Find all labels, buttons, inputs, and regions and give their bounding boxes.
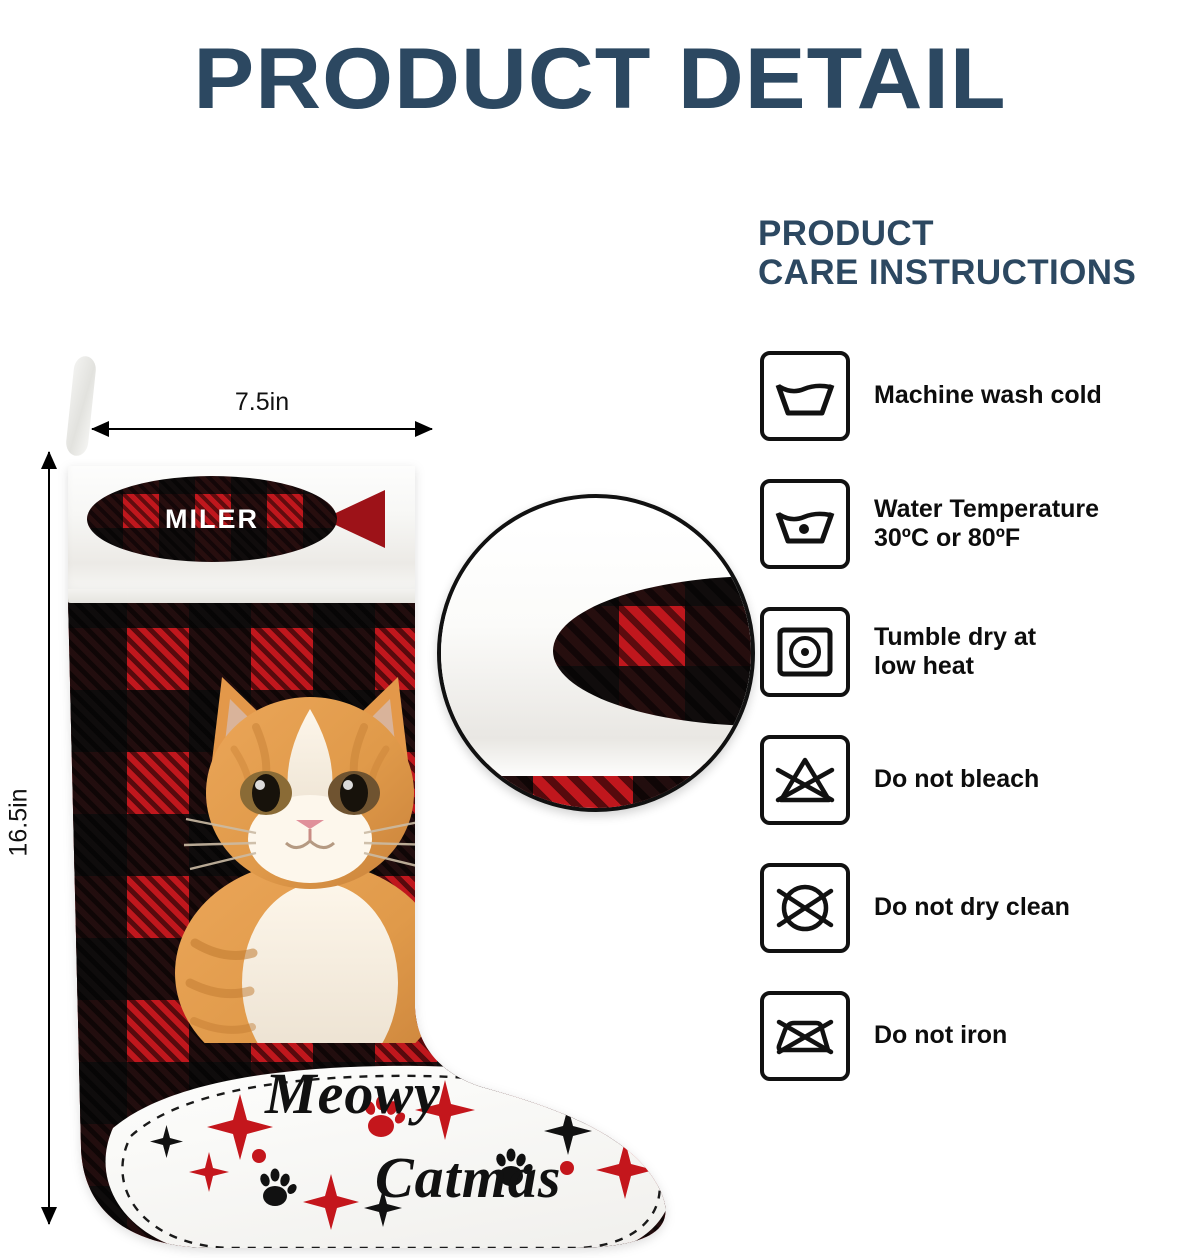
care-row: Machine wash cold bbox=[760, 332, 1190, 460]
care-label: Do not iron bbox=[874, 1021, 1007, 1051]
care-label: Water Temperature 30ºC or 80ºF bbox=[874, 495, 1099, 554]
care-row: Do not iron bbox=[760, 972, 1190, 1100]
magnifier-content: MIL bbox=[437, 494, 755, 812]
height-dimension-label: 16.5in bbox=[5, 778, 34, 868]
care-instructions-list: Machine wash cold Water Temperature 30ºC… bbox=[760, 332, 1190, 1100]
width-dimension-arrow bbox=[92, 428, 432, 430]
care-instructions-title: PRODUCT CARE INSTRUCTIONS bbox=[758, 214, 1188, 292]
sentiment-line-1: Meowy bbox=[265, 1060, 565, 1127]
care-label: Tumble dry at low heat bbox=[874, 623, 1036, 682]
do-not-dry-clean-icon bbox=[760, 863, 850, 953]
width-dimension-label: 7.5in bbox=[92, 388, 432, 417]
care-row: Do not dry clean bbox=[760, 844, 1190, 972]
machine-wash-icon bbox=[760, 351, 850, 441]
tumble-dry-low-icon bbox=[760, 607, 850, 697]
page-title: PRODUCT DETAIL bbox=[0, 36, 1200, 122]
do-not-iron-icon bbox=[760, 991, 850, 1081]
care-title-line-2: CARE INSTRUCTIONS bbox=[758, 253, 1188, 292]
care-label: Do not dry clean bbox=[874, 893, 1070, 923]
do-not-bleach-icon bbox=[760, 735, 850, 825]
sentiment-text: Meowy Catmas bbox=[265, 1060, 635, 1230]
pet-photo bbox=[160, 653, 460, 1043]
height-dimension-arrow bbox=[48, 452, 50, 1224]
care-instructions-panel: PRODUCT CARE INSTRUCTIONS Machine wash c… bbox=[758, 214, 1188, 292]
care-row: Do not bleach bbox=[760, 716, 1190, 844]
sentiment-line-2: Catmas bbox=[375, 1144, 705, 1211]
product-illustration: 7.5in 16.5in bbox=[0, 160, 740, 1120]
paw-print-black-1 bbox=[613, 1103, 653, 1141]
product-detail-page: PRODUCT DETAIL 7.5in 16.5in bbox=[0, 0, 1200, 1200]
care-row: Tumble dry at low heat bbox=[760, 588, 1190, 716]
care-row: Water Temperature 30ºC or 80ºF bbox=[760, 460, 1190, 588]
water-temperature-icon bbox=[760, 479, 850, 569]
care-title-line-1: PRODUCT bbox=[758, 214, 1188, 253]
kitten-illustration bbox=[160, 653, 460, 1043]
care-label: Do not bleach bbox=[874, 765, 1039, 795]
fish-name-tag: MILER bbox=[87, 476, 405, 562]
care-label: Machine wash cold bbox=[874, 381, 1102, 411]
pet-name-text: MILER bbox=[87, 476, 337, 562]
magnifier-detail-circle: MIL bbox=[437, 494, 755, 812]
